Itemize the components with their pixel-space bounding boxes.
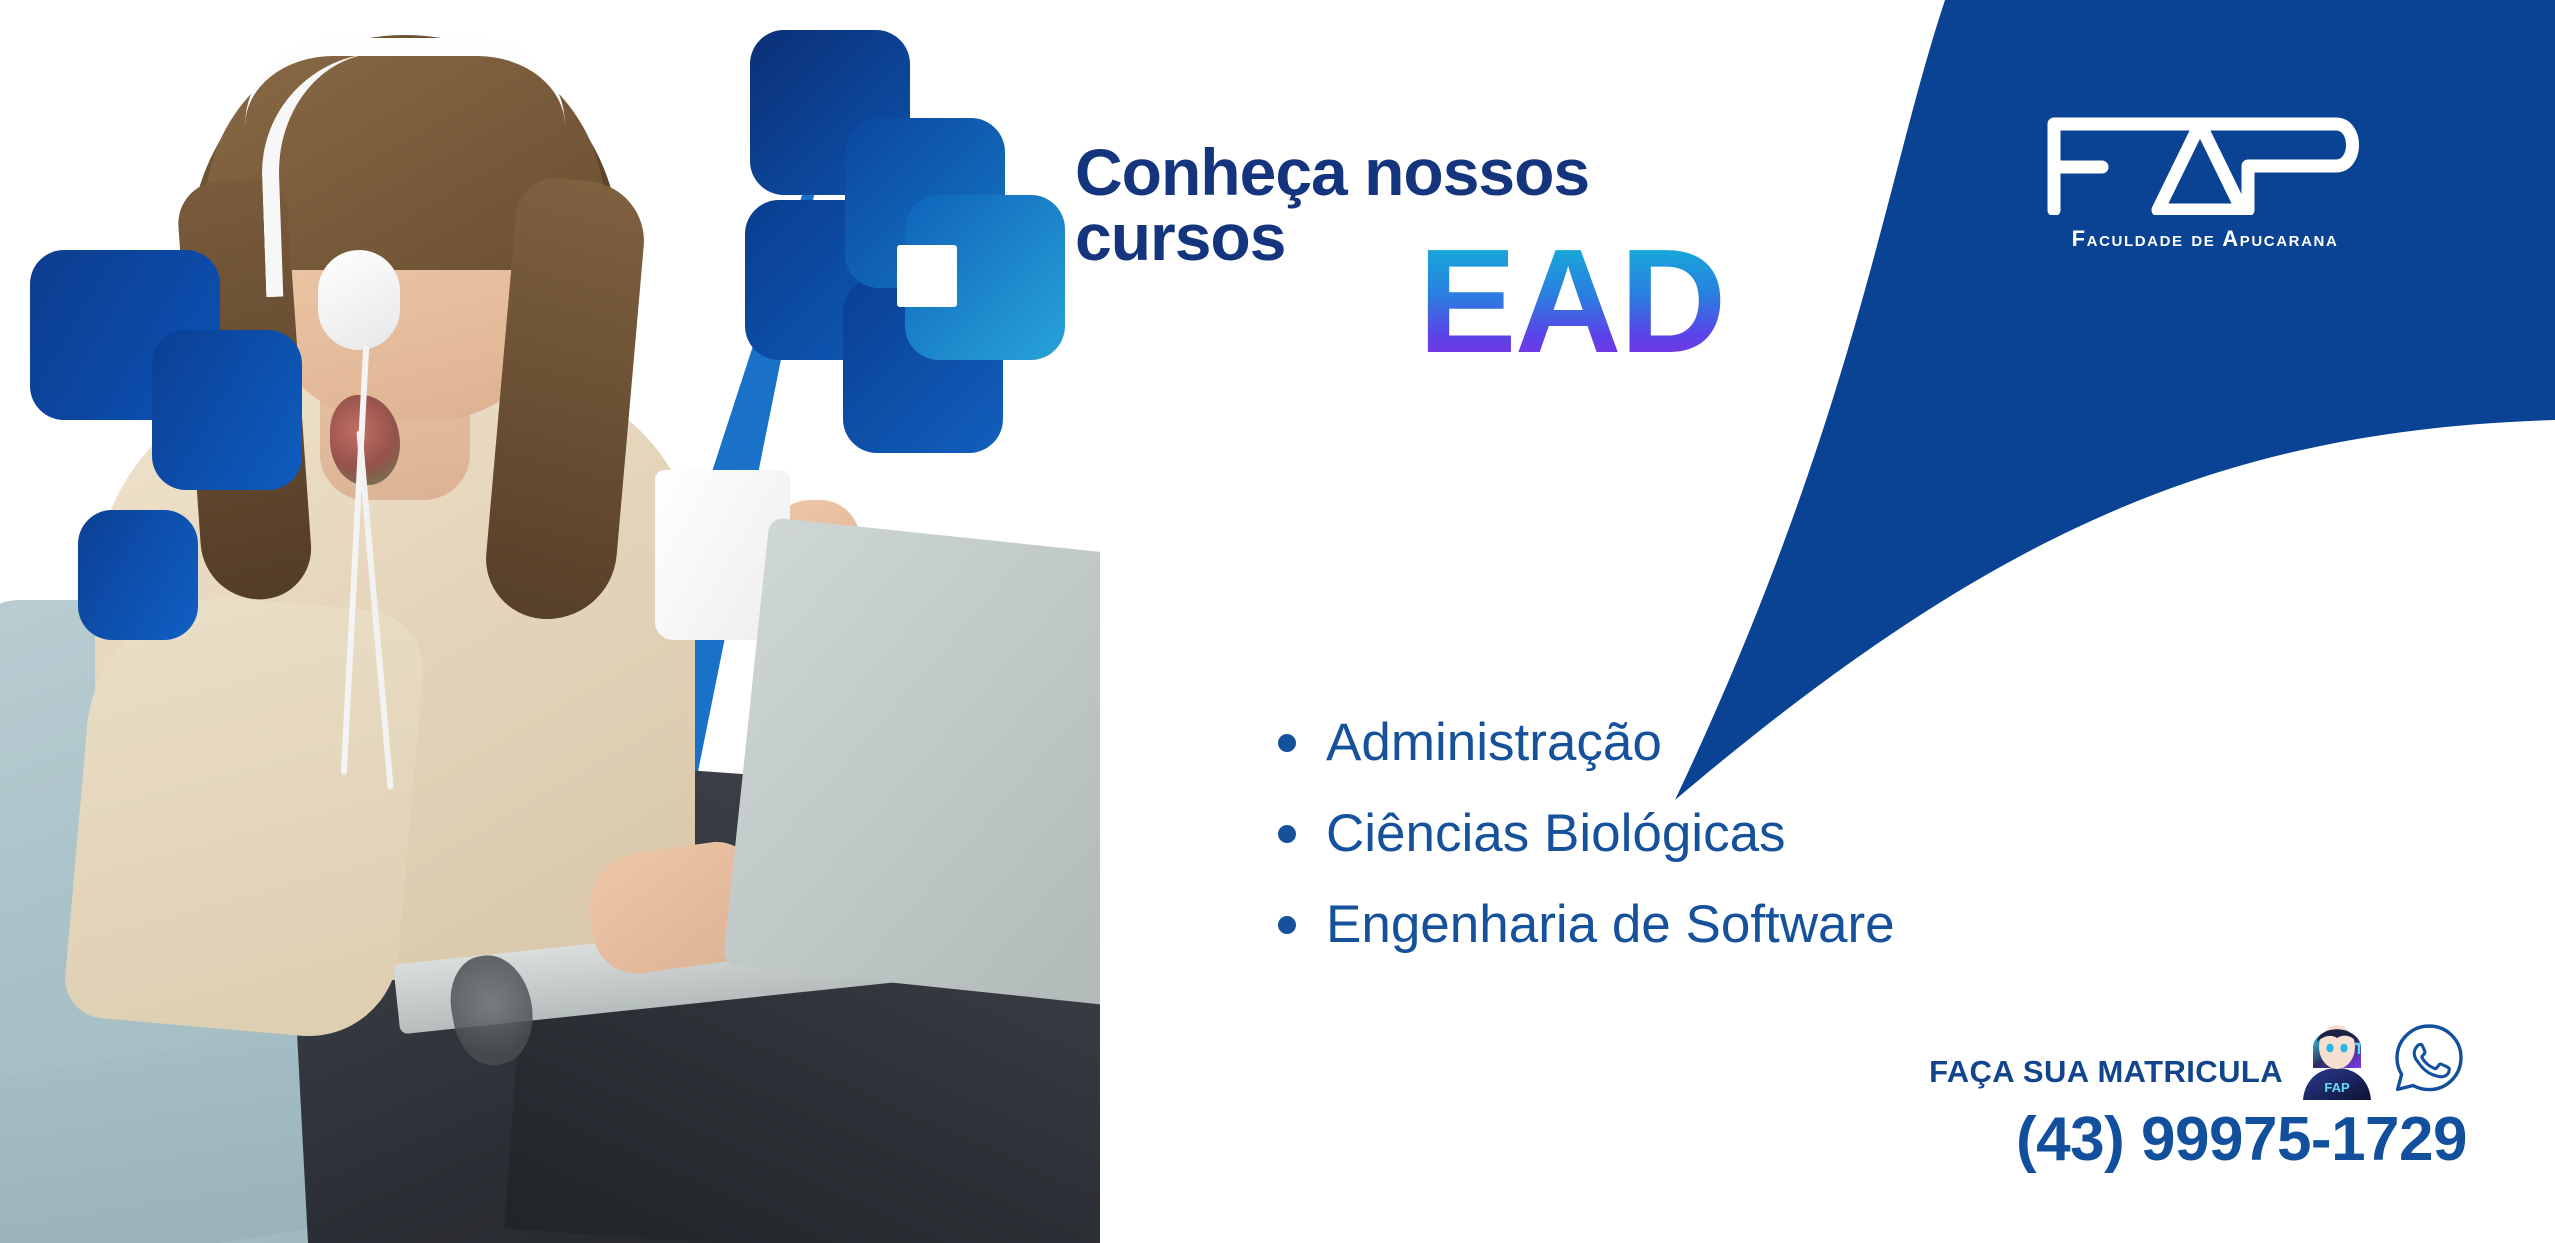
course-list: Administração Ciências Biológicas Engenh… (1278, 712, 1895, 985)
support-agent-avatar: FAP (2293, 1012, 2381, 1100)
headline-line-1: Conheça nossos (1075, 140, 1589, 205)
fap-logo-subtitle: Faculdade de Apucarana (2040, 226, 2370, 252)
decor-block-left-3 (78, 510, 198, 640)
course-item[interactable]: Administração (1278, 712, 1895, 773)
course-label: Engenharia de Software (1326, 894, 1895, 955)
bullet-icon (1278, 916, 1296, 934)
course-item[interactable]: Ciências Biológicas (1278, 803, 1895, 864)
bullet-icon (1278, 734, 1296, 752)
headline-accent-ead: EAD (1418, 228, 1724, 376)
sweater-sleeve (62, 586, 428, 1043)
decor-block-left-2 (152, 330, 302, 490)
fap-logo[interactable]: Faculdade de Apucarana (2040, 110, 2370, 252)
decor-block-cutout (897, 245, 957, 307)
cta-label: FAÇA SUA MATRICULA (1929, 1054, 2283, 1100)
headphone-arm (258, 47, 568, 297)
laptop-lid (723, 517, 1100, 1013)
bullet-icon (1278, 825, 1296, 843)
course-item[interactable]: Engenharia de Software (1278, 894, 1895, 955)
headphone-earcup (318, 250, 400, 350)
whatsapp-icon[interactable] (2391, 1020, 2467, 1096)
svg-text:FAP: FAP (2324, 1080, 2350, 1095)
contact-block: FAÇA SUA MATRICULA (1929, 1012, 2467, 1175)
course-label: Administração (1326, 712, 1662, 773)
ead-courses-banner: Conheça nossos cursos EAD Administração … (0, 0, 2555, 1243)
phone-number[interactable]: (43) 99975-1729 (1929, 1104, 2467, 1175)
course-label: Ciências Biológicas (1326, 803, 1786, 864)
fap-logo-mark (2040, 110, 2370, 215)
